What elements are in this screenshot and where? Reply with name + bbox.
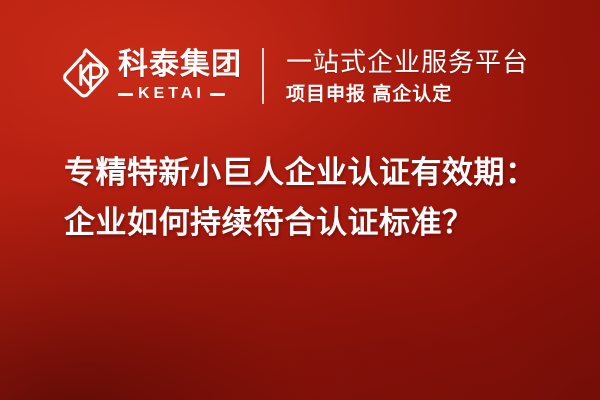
headline-line-1: 专精特新小巨人企业认证有效期： <box>64 148 564 198</box>
ketai-logo-icon <box>62 47 110 105</box>
brand-dash-right-icon <box>210 93 225 96</box>
brand-header: 科泰集团 KETAI 一站式企业服务平台 项目申报 高企认定 <box>62 42 529 110</box>
brand-name-en-row: KETAI <box>118 86 242 102</box>
header-vertical-divider <box>262 48 264 104</box>
brand-name-cn: 科泰集团 <box>118 50 242 80</box>
tagline-block: 一站式企业服务平台 项目申报 高企认定 <box>286 46 529 106</box>
tagline-primary: 一站式企业服务平台 <box>286 49 529 75</box>
headline-block: 专精特新小巨人企业认证有效期： 企业如何持续符合认证标准？ <box>64 148 564 248</box>
promotional-banner: 科泰集团 KETAI 一站式企业服务平台 项目申报 高企认定 专精特新小巨人企业… <box>0 0 600 400</box>
brand-dash-left-icon <box>118 93 133 96</box>
tagline-secondary: 项目申报 高企认定 <box>286 85 529 104</box>
brand-name-en: KETAI <box>138 86 205 102</box>
brand-text-block: 科泰集团 KETAI <box>118 47 242 105</box>
headline-line-2: 企业如何持续符合认证标准？ <box>64 198 564 248</box>
